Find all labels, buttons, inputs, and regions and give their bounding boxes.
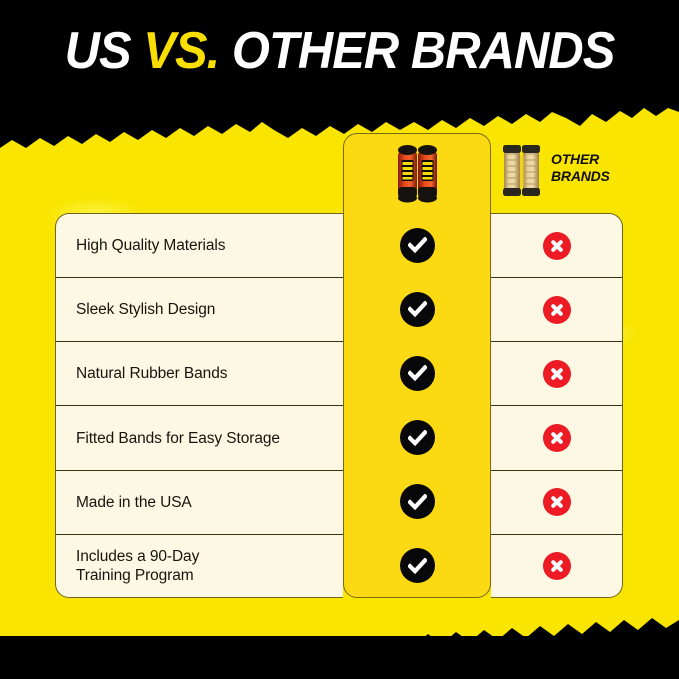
- page-title: US VS. OTHER BRANDS: [20, 22, 658, 80]
- feature-cell: Sleek Stylish Design: [55, 277, 343, 341]
- other-cell: [491, 341, 623, 405]
- feature-cell: Includes a 90-Day Training Program: [55, 534, 343, 598]
- feature-cell: Made in the USA: [55, 470, 343, 534]
- us-cell: [343, 213, 491, 277]
- title-us: US: [65, 22, 144, 80]
- cross-circle-icon: [543, 488, 571, 516]
- other-cell: [491, 213, 623, 277]
- cross-circle-icon: [543, 232, 571, 260]
- other-cell: [491, 405, 623, 469]
- cross-circle-icon: [543, 552, 571, 580]
- feature-label: Sleek Stylish Design: [76, 300, 215, 319]
- table-row: Sleek Stylish Design: [55, 277, 623, 341]
- title-other-brands: OTHER BRANDS: [219, 22, 614, 80]
- other-cell: [491, 277, 623, 341]
- check-circle-icon: [400, 548, 435, 583]
- us-cell: [343, 405, 491, 469]
- us-cell: [343, 470, 491, 534]
- feature-cell: Fitted Bands for Easy Storage: [55, 405, 343, 469]
- cross-circle-icon: [543, 360, 571, 388]
- other-cell: [491, 470, 623, 534]
- title-vs: VS.: [143, 22, 219, 80]
- feature-label: Fitted Bands for Easy Storage: [76, 429, 280, 448]
- column-headers: [0, 133, 679, 213]
- table-row: Includes a 90-Day Training Program: [55, 534, 623, 598]
- feature-label: Made in the USA: [76, 493, 192, 512]
- us-cell: [343, 534, 491, 598]
- feature-label: Includes a 90-Day Training Program: [76, 547, 199, 585]
- feature-label: High Quality Materials: [76, 236, 225, 255]
- comparison-graphic: US VS. OTHER BRANDS: [0, 0, 679, 679]
- cross-circle-icon: [543, 424, 571, 452]
- comparison-table: High Quality Materials Sleek Stylish Des…: [55, 213, 623, 598]
- table-row: Fitted Bands for Easy Storage: [55, 405, 623, 469]
- check-circle-icon: [400, 484, 435, 519]
- us-cell: [343, 341, 491, 405]
- us-cell: [343, 277, 491, 341]
- table-row: High Quality Materials: [55, 213, 623, 277]
- check-circle-icon: [400, 420, 435, 455]
- other-cell: [491, 534, 623, 598]
- feature-cell: Natural Rubber Bands: [55, 341, 343, 405]
- table-row: Made in the USA: [55, 470, 623, 534]
- feature-cell: High Quality Materials: [55, 213, 343, 277]
- cross-circle-icon: [543, 296, 571, 324]
- feature-label: Natural Rubber Bands: [76, 364, 227, 383]
- check-circle-icon: [400, 228, 435, 263]
- table-row: Natural Rubber Bands: [55, 341, 623, 405]
- check-circle-icon: [400, 292, 435, 327]
- check-circle-icon: [400, 356, 435, 391]
